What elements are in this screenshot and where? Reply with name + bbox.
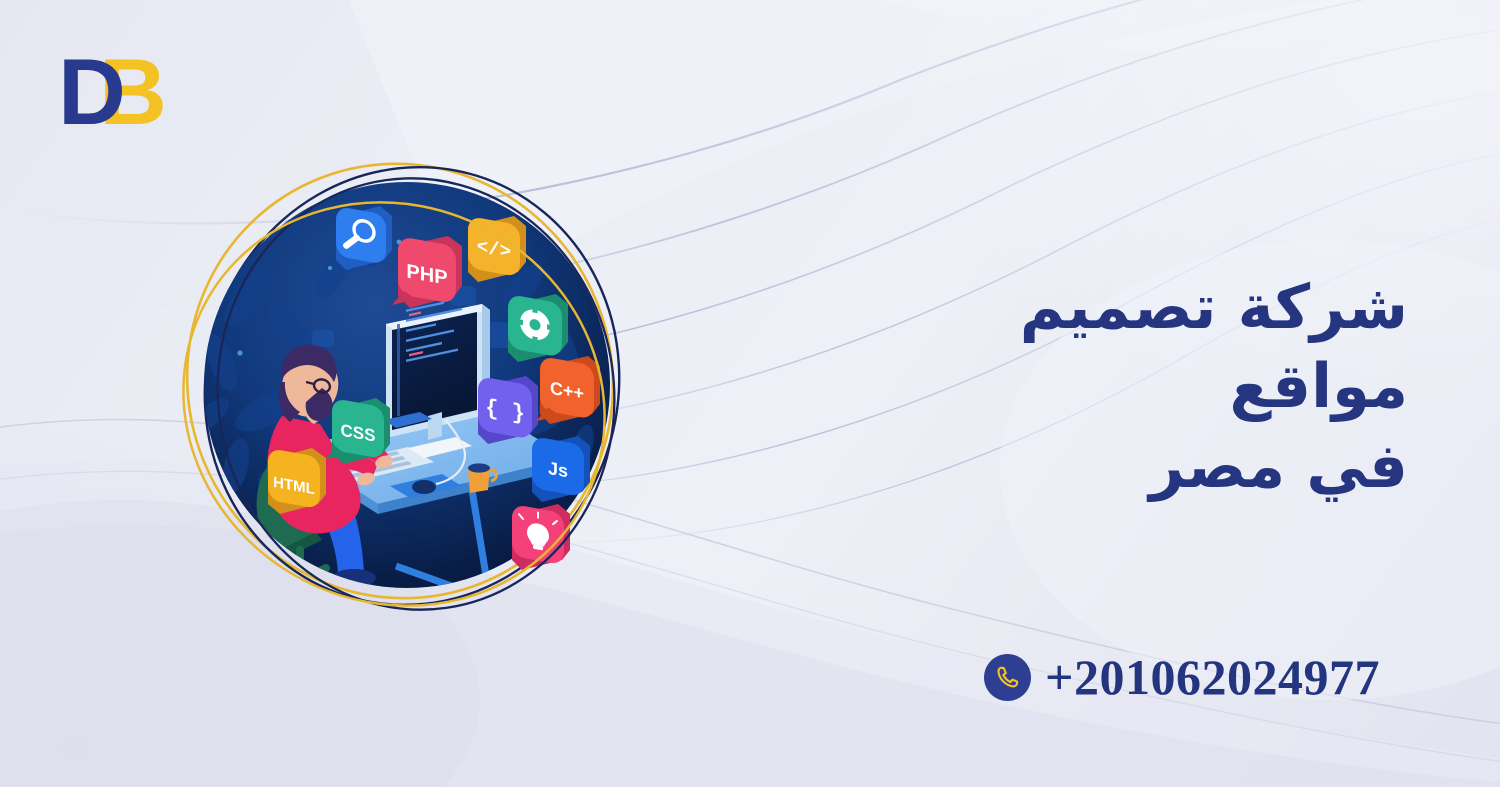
brand-logo[interactable]: B D [58,44,188,144]
banner-root: B D [0,0,1500,787]
phone-handset-icon [994,664,1021,691]
badge-braces: { } [478,376,538,444]
contact-phone[interactable]: +201062024977 [984,648,1380,706]
mouse [412,480,436,494]
headline-line-1: شركة تصميم مواقع [848,268,1408,427]
svg-text:Js: Js [548,458,568,481]
badge-php: PHP [392,236,462,309]
phone-icon-badge[interactable] [984,654,1031,701]
headline-line-2: في مصر [848,427,1408,506]
page-title: شركة تصميم مواقع في مصر [848,268,1408,506]
developer-illustration: HTML CSS PHP </> [150,148,670,623]
badge-gear [508,294,568,362]
badge-js: Js [532,436,590,502]
phone-number-text: +201062024977 [1045,648,1380,706]
badge-html: HTML [268,448,326,514]
logo-letter-d: D [58,44,122,140]
badge-css: CSS [326,398,390,464]
